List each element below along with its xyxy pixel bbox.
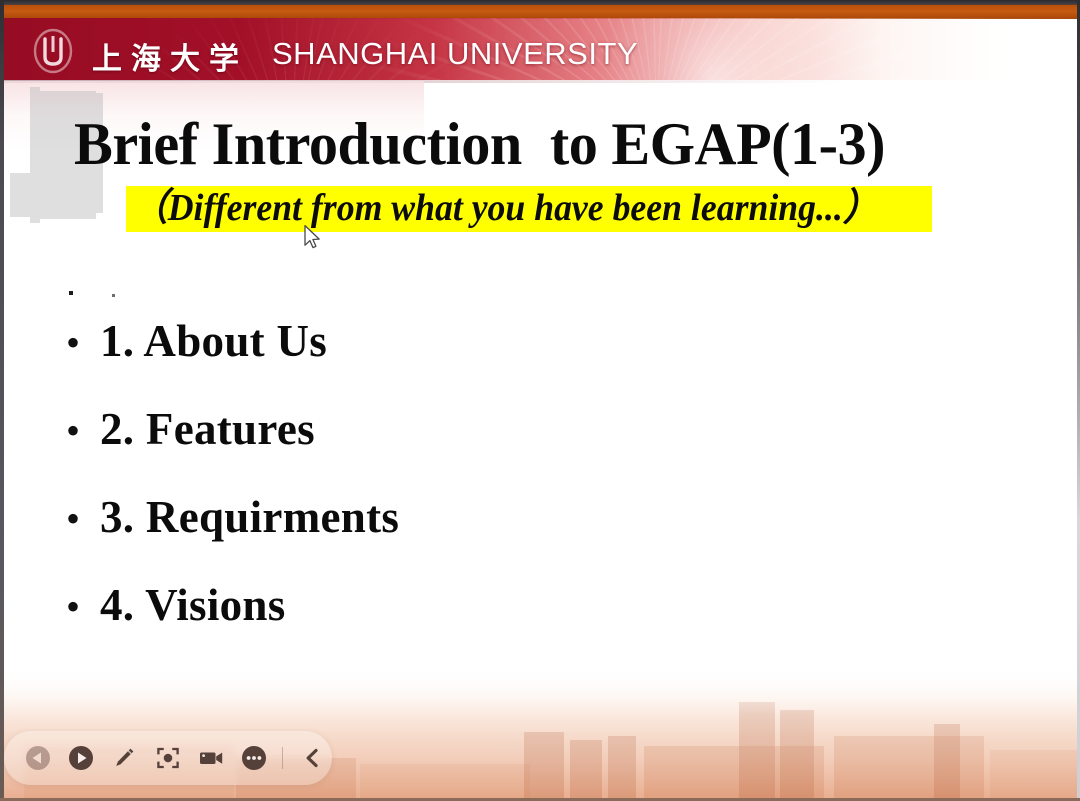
circle-play-icon	[68, 745, 94, 771]
brand-name-chinese: 上海大学	[92, 34, 248, 78]
slide-title: Brief Introduction to EGAP(1-3)	[74, 109, 1034, 179]
stray-dot-1	[69, 291, 73, 295]
list-item: • 1. About Us	[66, 315, 866, 403]
bullet-text: 3. Requirments	[100, 491, 399, 543]
floating-toolbar	[4, 731, 332, 785]
video-camera-icon	[197, 745, 225, 771]
bullet-text: 1. About Us	[100, 315, 327, 367]
slide-canvas: 上海大学 SHANGHAI UNIVERSITY Brief Introduct…	[4, 5, 1077, 798]
play-button[interactable]	[61, 734, 100, 782]
brand-name-english: SHANGHAI UNIVERSITY	[272, 36, 638, 72]
banner-underline	[4, 80, 1077, 83]
ellipsis-circle-icon	[241, 745, 267, 771]
screen: 上海大学 SHANGHAI UNIVERSITY Brief Introduct…	[0, 0, 1080, 801]
collapse-button[interactable]	[293, 734, 332, 782]
capture-focus-icon	[155, 745, 181, 771]
bullet-text: 4. Visions	[100, 579, 286, 631]
bullet-marker-icon: •	[66, 587, 100, 627]
bullet-text: 2. Features	[100, 403, 315, 455]
list-item: • 3. Requirments	[66, 491, 866, 579]
toolbar-divider	[282, 747, 283, 769]
bullet-marker-icon: •	[66, 499, 100, 539]
university-banner: 上海大学 SHANGHAI UNIVERSITY	[4, 18, 1077, 80]
shanghai-university-u-logo-icon	[32, 28, 74, 74]
record-button[interactable]	[191, 734, 230, 782]
bullet-marker-icon: •	[66, 323, 100, 363]
window-edge-left	[0, 0, 4, 801]
previous-button[interactable]	[18, 734, 57, 782]
annotate-button[interactable]	[105, 734, 144, 782]
window-edge-top	[0, 0, 1080, 5]
bullet-marker-icon: •	[66, 411, 100, 451]
circle-play-back-icon	[25, 745, 51, 771]
slide-subtitle: （Different from what you have been learn…	[132, 188, 879, 228]
list-item: • 4. Visions	[66, 579, 866, 667]
more-button[interactable]	[235, 734, 274, 782]
screenshot-button[interactable]	[148, 734, 187, 782]
chevron-left-icon	[301, 745, 323, 771]
slide-subtitle-highlight: （Different from what you have been learn…	[126, 186, 932, 232]
stray-dot-2	[112, 294, 115, 297]
orange-accent-bar	[4, 5, 1077, 19]
slide-bullet-list: • 1. About Us • 2. Features • 3. Requirm…	[66, 315, 866, 667]
list-item: • 2. Features	[66, 403, 866, 491]
pencil-icon	[111, 745, 137, 771]
